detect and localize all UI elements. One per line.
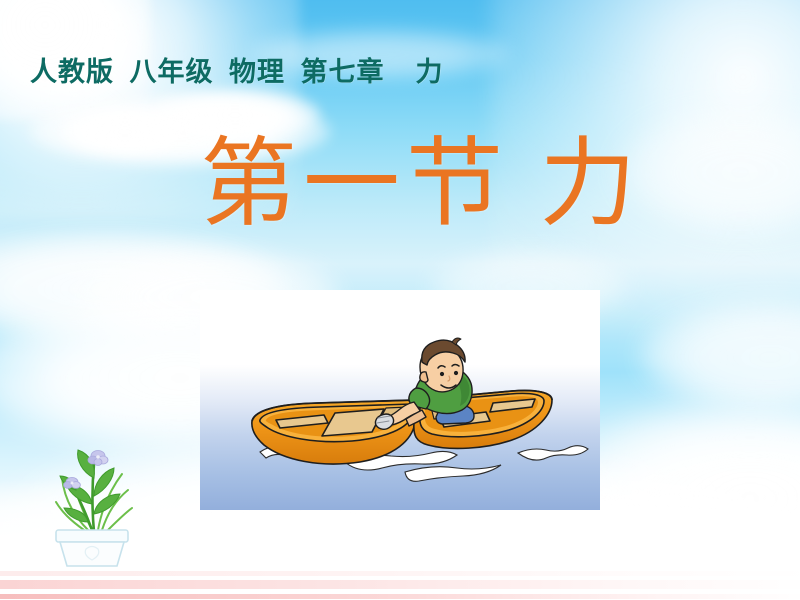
slide-canvas: 人教版 八年级 物理 第七章 力 第一节 力 <box>0 0 800 600</box>
header-breadcrumb: 人教版 八年级 物理 第七章 力 <box>30 50 444 89</box>
pot-rim <box>56 530 128 542</box>
boy-pushing-boat-illustration <box>200 290 600 510</box>
pink-band-faint <box>0 571 800 576</box>
page-title: 第一节 力 <box>200 133 642 238</box>
pink-band-upper <box>0 580 800 589</box>
potted-plant-decoration <box>36 438 156 568</box>
potted-plant-icon <box>36 438 156 568</box>
pot-body <box>60 542 124 566</box>
pink-band-lower <box>0 594 800 599</box>
illustration-panel <box>200 290 600 510</box>
